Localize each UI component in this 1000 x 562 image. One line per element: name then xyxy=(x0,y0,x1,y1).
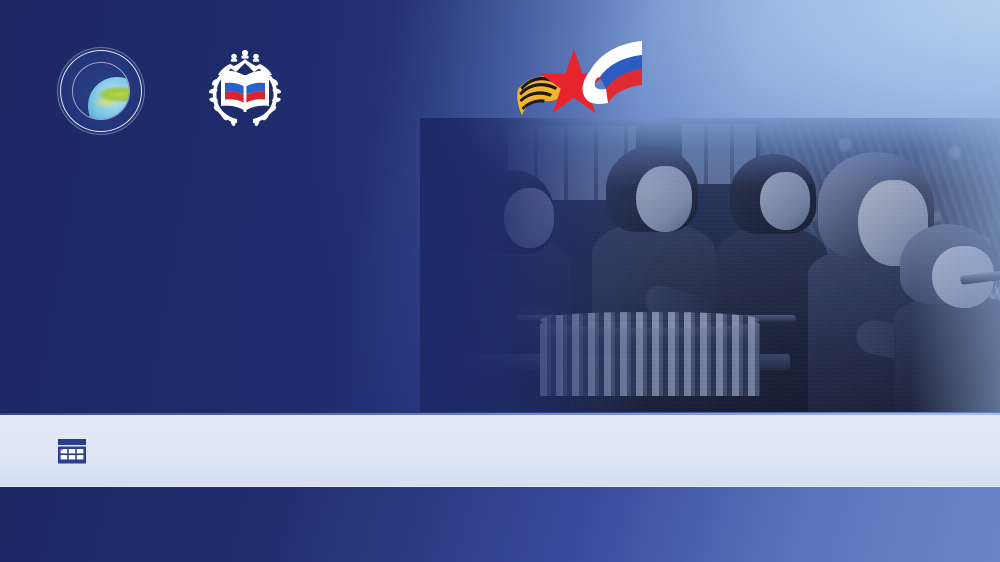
eurasian-womens-forum-logo xyxy=(57,47,145,135)
poster-root xyxy=(0,0,1000,562)
star-ribbon-flag-icon xyxy=(516,33,646,125)
book-eagle-laurel-icon xyxy=(206,44,284,130)
eurasian-forum-circular-text xyxy=(57,47,145,135)
date-bar xyxy=(0,415,1000,487)
date-bar-topline xyxy=(0,413,1000,415)
wwii-women-workers-photo xyxy=(420,118,1000,418)
logo-row xyxy=(0,0,1000,140)
national-centre-emblem xyxy=(206,44,284,130)
calendar-icon xyxy=(56,435,88,467)
defenders-of-fatherland-logo xyxy=(516,33,816,125)
